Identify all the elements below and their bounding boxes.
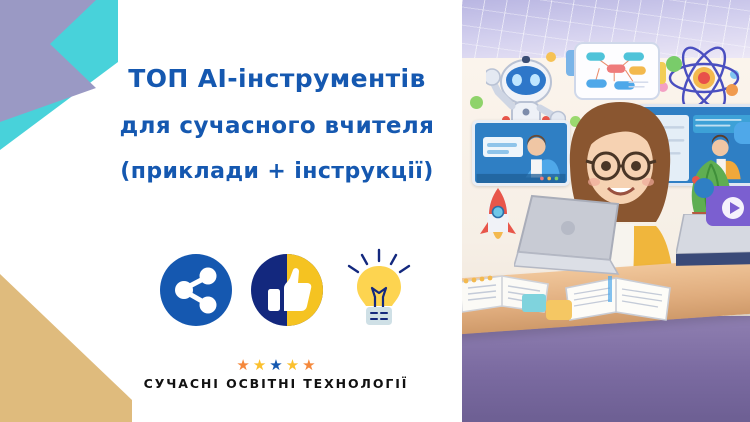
sticky-note [522,294,546,312]
speech-bubble-icon [734,122,750,144]
brand-block: ★ ★ ★ ★ ★ СУЧАСНІ ОСВІТНІ ТЕХНОЛОГІЇ [138,358,414,391]
open-book-center [564,274,672,326]
share-icon[interactable] [160,254,232,326]
star-2: ★ [253,358,266,373]
page-title: ТОП AI-інструментів для сучасного вчител… [112,66,442,183]
star-4: ★ [286,358,299,373]
brand-name: СУЧАСНІ ОСВІТНІ ТЕХНОЛОГІЇ [138,376,414,391]
star-1: ★ [236,358,249,373]
badge-icon [694,178,714,198]
star-rating: ★ ★ ★ ★ ★ [138,358,414,373]
star-5: ★ [302,358,315,373]
rocket-icon [478,186,518,248]
flowchart-board [574,42,660,100]
title-line-1: ТОП AI-інструментів [112,66,442,92]
star-3: ★ [269,358,282,373]
illustration-panel [462,0,750,422]
sticky-note [546,300,572,320]
title-line-2: для сучасного вчителя [112,114,442,138]
corner-triangle-sand [0,274,132,422]
laptop [514,190,626,282]
floor [462,316,750,422]
poster-canvas: ТОП AI-інструментів для сучасного вчител… [0,0,750,422]
title-line-3: (приклади + інструкції) [112,160,442,183]
thumbs-up-icon[interactable] [251,254,323,326]
icon-row [160,246,410,334]
lightbulb-icon[interactable] [342,248,416,332]
confetti-blob [470,96,483,109]
